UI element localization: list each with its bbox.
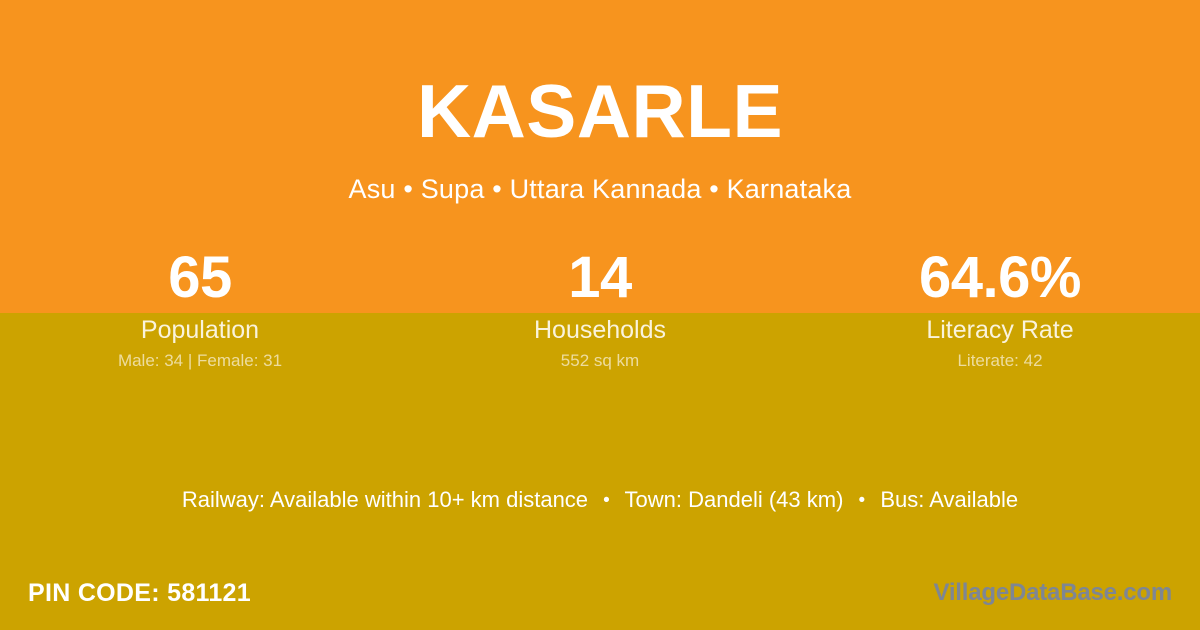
stat-households: 14 Households 552 sq km [400,243,800,371]
amenity-railway: Railway: Available within 10+ km distanc… [182,487,588,512]
amenity-separator-icon: • [594,486,619,516]
stat-population: 65 Population Male: 34 | Female: 31 [0,243,400,371]
stat-label-literacy-rate: Literacy Rate [800,315,1200,345]
stat-sub-households: 552 sq km [400,351,800,371]
title-block: KASARLE Asu • Supa • Uttara Kannada • Ka… [0,74,1200,205]
stat-value-households: 14 [400,243,800,313]
stat-literacy-rate: 64.6% Literacy Rate Literate: 42 [800,243,1200,371]
stat-label-population: Population [0,315,400,345]
amenity-town: Town: Dandeli (43 km) [625,487,844,512]
stat-sub-population: Male: 34 | Female: 31 [0,351,400,371]
stats-row: 65 Population Male: 34 | Female: 31 14 H… [0,243,1200,371]
breadcrumb: Asu • Supa • Uttara Kannada • Karnataka [0,175,1200,205]
amenity-separator-icon: • [850,486,875,516]
brand-watermark: VillageDataBase.com [933,578,1172,608]
footer: PIN CODE: 581121 VillageDataBase.com [0,556,1200,630]
stat-value-literacy-rate: 64.6% [800,243,1200,313]
amenity-bus: Bus: Available [880,487,1018,512]
pin-code: PIN CODE: 581121 [28,578,251,608]
stat-label-households: Households [400,315,800,345]
stat-sub-literacy-rate: Literate: 42 [800,351,1200,371]
stat-value-population: 65 [0,243,400,313]
village-info-card: KASARLE Asu • Supa • Uttara Kannada • Ka… [0,0,1200,630]
amenities-line: Railway: Available within 10+ km distanc… [0,485,1200,516]
page-title: KASARLE [0,74,1200,149]
